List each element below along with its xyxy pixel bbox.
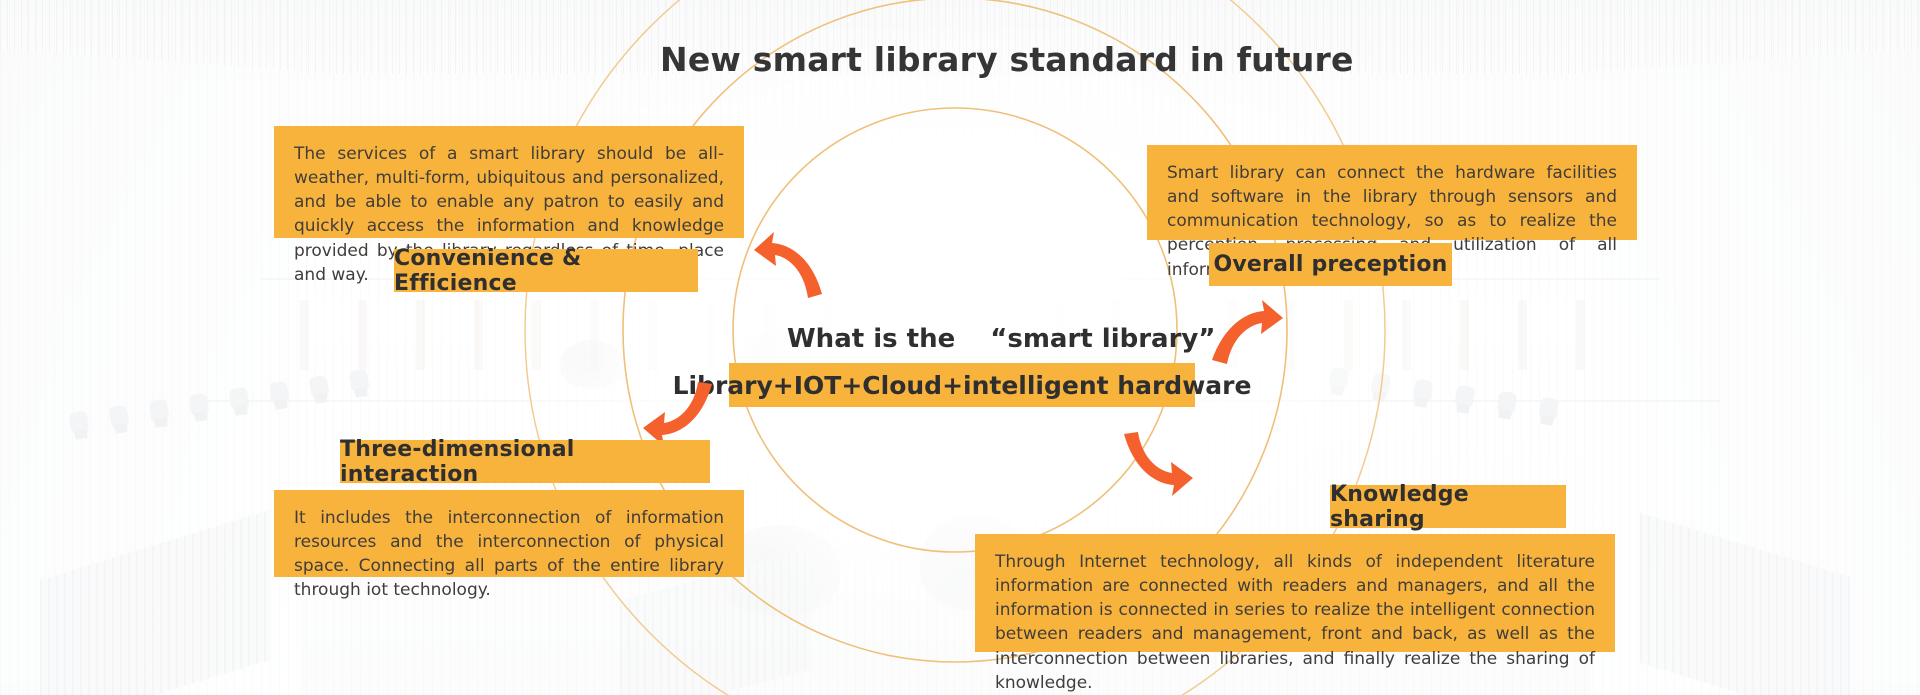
panel-label-overall-preception[interactable]: Overall preception bbox=[1209, 243, 1452, 286]
slide-canvas: New smart library standard in future The… bbox=[0, 0, 1920, 695]
center-formula: Library+IOT+Cloud+intelligent hardware bbox=[729, 363, 1195, 407]
arrow-up-left-icon bbox=[752, 228, 830, 300]
panel-body-knowledge-sharing: Through Internet technology, all kinds o… bbox=[975, 534, 1615, 652]
panel-body-overall-preception: Smart library can connect the hardware f… bbox=[1147, 145, 1637, 240]
panel-body-three-dimensional-interaction: It includes the interconnection of infor… bbox=[274, 490, 744, 577]
arrow-up-right-icon bbox=[1208, 296, 1286, 368]
page-title: New smart library standard in future bbox=[660, 40, 1354, 79]
panel-label-knowledge-sharing[interactable]: Knowledge sharing bbox=[1330, 485, 1566, 528]
panel-label-three-dimensional-interaction[interactable]: Three-dimensional interaction bbox=[340, 440, 710, 483]
arrow-down-right-icon bbox=[1118, 426, 1196, 498]
panel-label-convenience-efficience[interactable]: Convenience & Efficience bbox=[394, 249, 698, 292]
center-question: What is the “smart library” bbox=[787, 318, 1215, 355]
panel-body-convenience-efficience: The services of a smart library should b… bbox=[274, 126, 744, 238]
